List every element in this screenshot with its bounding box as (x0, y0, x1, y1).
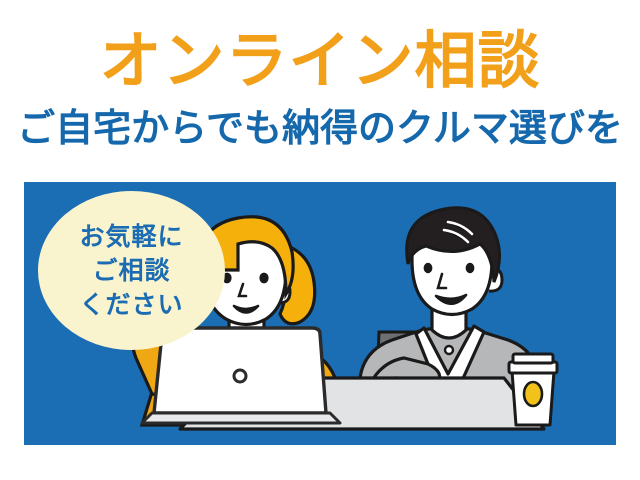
badge-line-1: お気軽に (79, 220, 183, 254)
online-consultation-banner: オンライン相談 ご自宅からでも納得のクルマ選びを (0, 0, 640, 480)
man-shirt-button (445, 346, 453, 354)
coffee-cup-lid-top (513, 354, 553, 363)
badge-line-3: ください (79, 288, 183, 322)
man-eye-right (466, 263, 475, 273)
woman-eye-right (259, 273, 268, 284)
coffee-cup-logo (524, 382, 542, 406)
laptop-base (142, 413, 340, 423)
page-title: オンライン相談 (0, 28, 640, 96)
headline-area: オンライン相談 ご自宅からでも納得のクルマ選びを (0, 0, 640, 175)
man-eye-left (424, 263, 433, 273)
panel-inner: お気軽に ご相談 ください (24, 182, 616, 445)
badge-line-2: ご相談 (92, 254, 170, 288)
illustration-panel: お気軽に ご相談 ください (24, 182, 616, 445)
consultation-badge-text: お気軽に ご相談 ください (38, 191, 225, 350)
page-subtitle: ご自宅からでも納得のクルマ選びを (0, 106, 640, 152)
laptop-logo (234, 370, 246, 382)
